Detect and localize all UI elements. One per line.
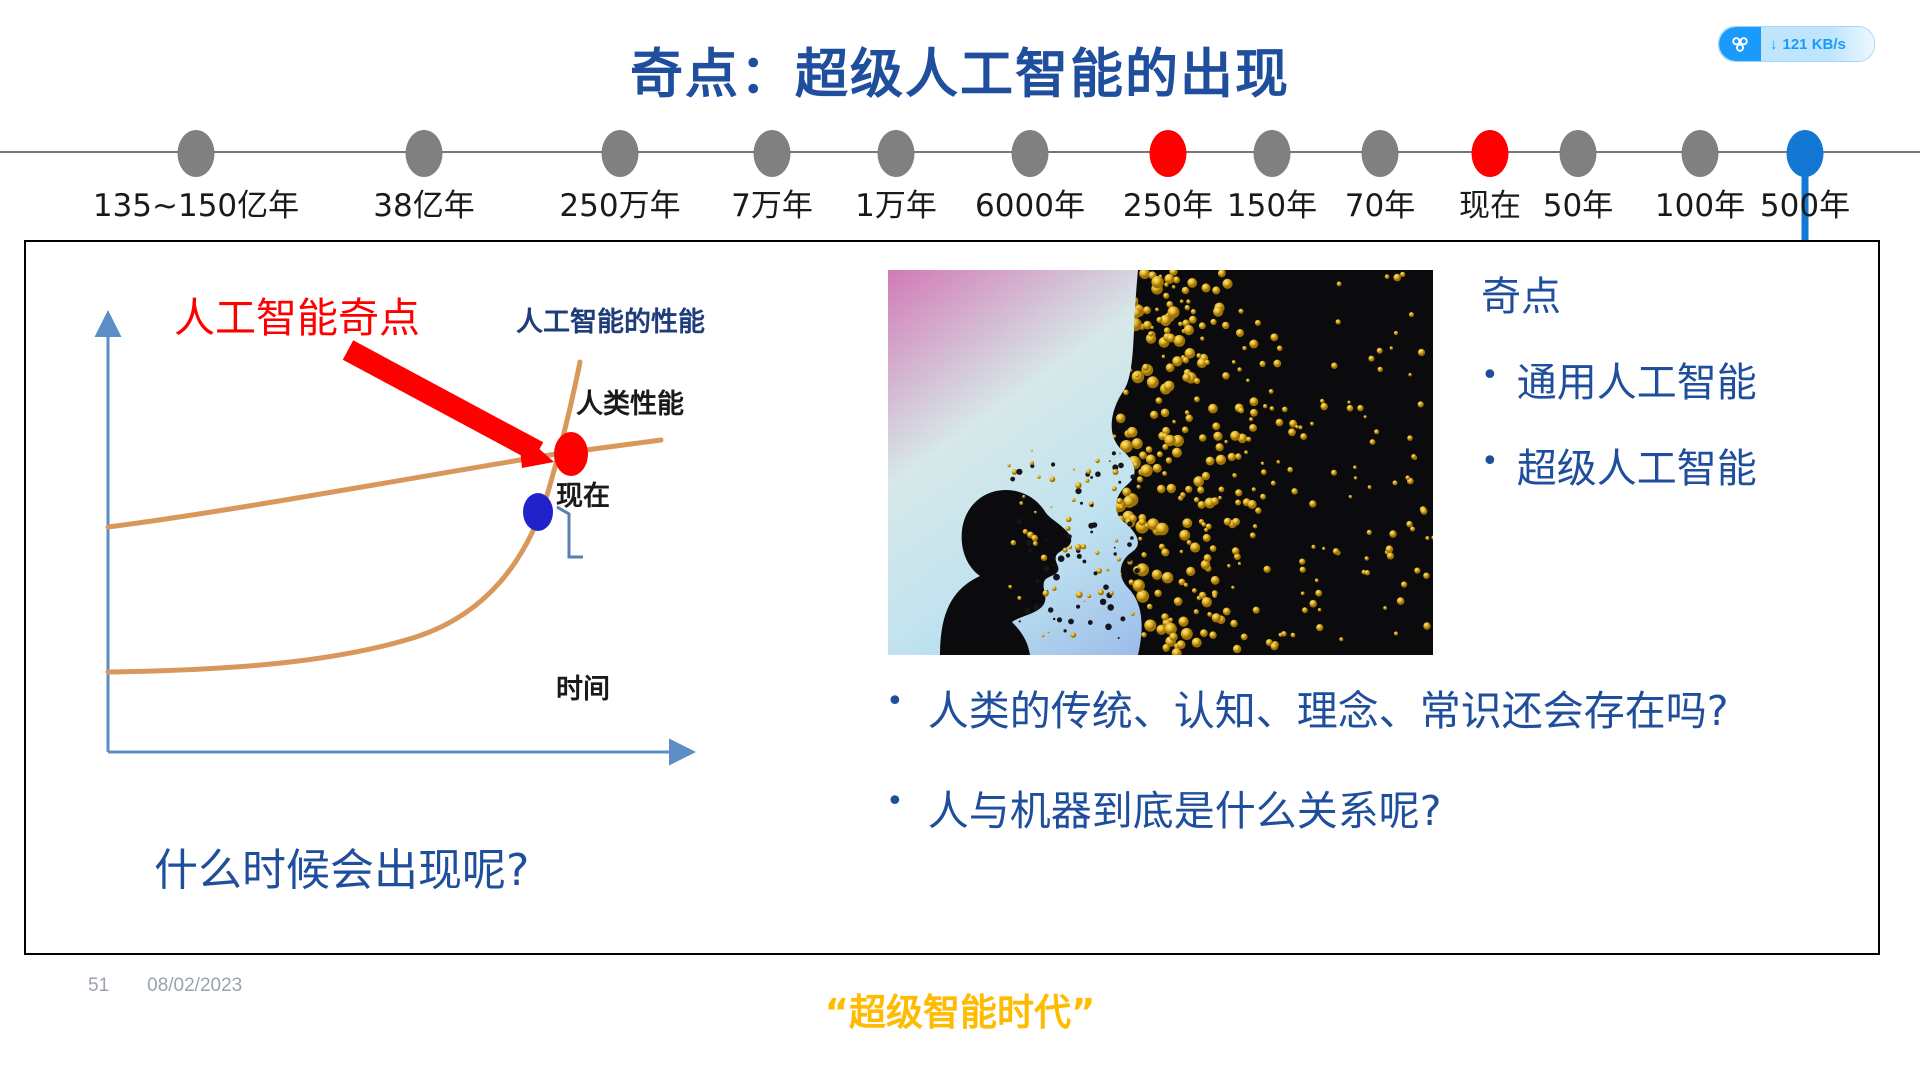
timeline-label: 250年 xyxy=(1123,180,1213,225)
timeline-label: 50年 xyxy=(1543,180,1613,225)
slide-content-frame: 人工智能奇点 人工智能的性能 人类性能 现在 时间 xyxy=(24,240,1880,955)
timeline-dot[interactable] xyxy=(178,130,215,177)
human-and-ai-profile-illustration xyxy=(888,270,1433,655)
bottom-bullet-list: •人类的传统、认知、理念、常识还会存在吗?•人与机器到底是什么关系呢? xyxy=(886,677,1846,877)
timeline-label: 135~150亿年 xyxy=(93,180,299,225)
timeline-label: 1万年 xyxy=(855,180,937,225)
right-column-heading: 奇点 xyxy=(1481,264,1871,322)
timeline-label: 100年 xyxy=(1655,180,1745,225)
timeline-dot[interactable] xyxy=(602,130,639,177)
bottom-caption: “超级智能时代” xyxy=(0,982,1920,1036)
timeline-dot[interactable] xyxy=(1362,130,1399,177)
singularity-chart: 人工智能奇点 人工智能的性能 人类性能 现在 时间 xyxy=(86,262,846,822)
right-column: 奇点 •通用人工智能•超级人工智能 xyxy=(1481,264,1871,494)
list-item: •人与机器到底是什么关系呢? xyxy=(886,777,1846,837)
chart-svg xyxy=(86,262,846,822)
timeline-label: 500年 xyxy=(1760,180,1850,225)
now-label: 现在 xyxy=(556,474,610,513)
timeline-label: 150年 xyxy=(1227,180,1317,225)
bullet-icon: • xyxy=(1481,436,1499,488)
timeline-dot[interactable] xyxy=(1682,130,1719,177)
timeline-dot[interactable] xyxy=(754,130,791,177)
list-item-label: 超级人工智能 xyxy=(1517,436,1757,494)
timeline-dot[interactable] xyxy=(1012,130,1049,177)
timeline-label: 6000年 xyxy=(975,180,1085,225)
timeline-dot[interactable] xyxy=(1560,130,1597,177)
timeline-dot[interactable] xyxy=(1787,130,1824,177)
singularity-callout-label: 人工智能奇点 xyxy=(174,284,420,344)
bullet-icon: • xyxy=(1481,350,1499,402)
bullet-icon: • xyxy=(886,777,904,827)
timeline-dot[interactable] xyxy=(1472,130,1509,177)
timeline-dot[interactable] xyxy=(878,130,915,177)
timeline-label: 现在 xyxy=(1459,180,1521,225)
ai-performance-label: 人工智能的性能 xyxy=(516,300,705,339)
list-item-label: 通用人工智能 xyxy=(1517,350,1757,408)
human-performance-label: 人类性能 xyxy=(576,382,684,421)
timeline-label: 38亿年 xyxy=(373,180,474,225)
timeline: 135~150亿年38亿年250万年7万年1万年6000年250年150年70年… xyxy=(0,108,1920,238)
bottom-left-question: 什么时候会出现呢? xyxy=(154,834,529,898)
timeline-label: 70年 xyxy=(1345,180,1415,225)
timeline-axis-line xyxy=(0,151,1920,153)
timeline-label: 7万年 xyxy=(731,180,813,225)
list-item: •人类的传统、认知、理念、常识还会存在吗? xyxy=(886,677,1846,737)
list-item: •超级人工智能 xyxy=(1481,436,1871,494)
list-item: •通用人工智能 xyxy=(1481,350,1871,408)
list-item-label: 人类的传统、认知、理念、常识还会存在吗? xyxy=(928,677,1729,737)
x-axis-label: 时间 xyxy=(556,667,610,706)
timeline-dot[interactable] xyxy=(1254,130,1291,177)
timeline-dot[interactable] xyxy=(406,130,443,177)
bullet-icon: • xyxy=(886,677,904,727)
list-item-label: 人与机器到底是什么关系呢? xyxy=(928,777,1442,837)
timeline-dot[interactable] xyxy=(1150,130,1187,177)
timeline-label: 250万年 xyxy=(559,180,680,225)
page-title: 奇点：超级人工智能的出现 xyxy=(0,32,1920,108)
